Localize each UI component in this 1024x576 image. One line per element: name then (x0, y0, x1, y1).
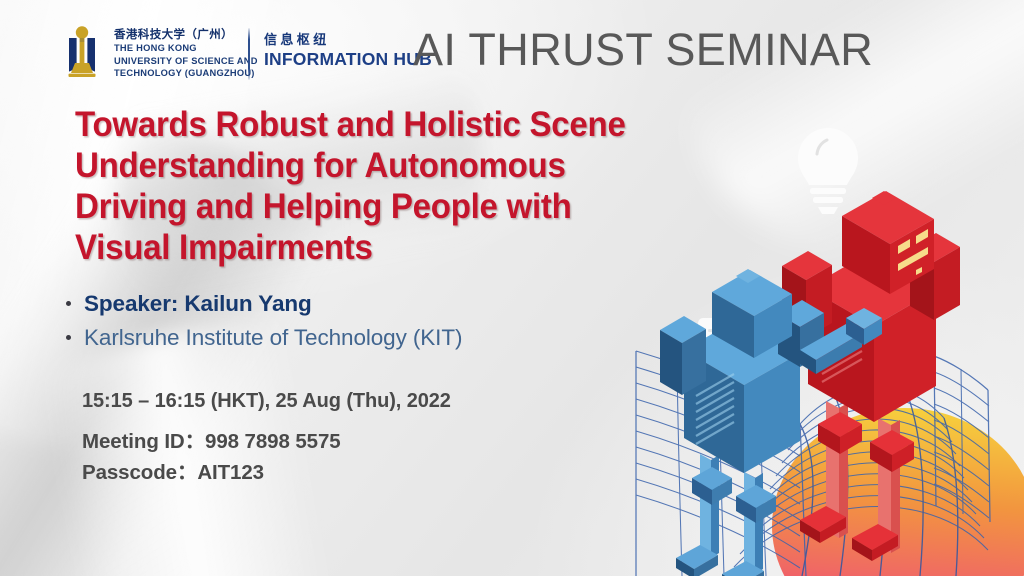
logo-divider (248, 28, 250, 80)
hkust-name-block: 香港科技大学（广州） THE HONG KONG UNIVERSITY OF S… (114, 25, 258, 79)
information-hub-logo: 信息枢纽 INFORMATION HUB (264, 32, 432, 69)
seminar-banner-title: AI THRUST SEMINAR (413, 23, 873, 76)
meeting-id: Meeting ID：998 7898 5575 (82, 427, 451, 458)
meeting-time: 15:15 – 16:15 (HKT), 25 Aug (Thu), 2022 (82, 389, 451, 413)
info-hub-chinese-name: 信息枢纽 (264, 32, 432, 48)
hkust-chinese-name: 香港科技大学（广州） (114, 28, 258, 42)
lightbulb-icon (798, 128, 858, 214)
hkust-logo-lockup: 香港科技大学（广州） THE HONG KONG UNIVERSITY OF S… (59, 25, 258, 81)
meeting-details: 15:15 – 16:15 (HKT), 25 Aug (Thu), 2022 … (82, 389, 451, 489)
bullet-dot-icon (66, 335, 71, 340)
list-item: Karlsruhe Institute of Technology (KIT) (66, 325, 462, 351)
poster-header: 香港科技大学（广州） THE HONG KONG UNIVERSITY OF S… (0, 0, 1024, 98)
bullet-dot-icon (66, 301, 71, 306)
list-item: Speaker: Kailun Yang (66, 291, 462, 317)
hkust-english-line1: THE HONG KONG (114, 42, 258, 54)
hkust-torch-logo-icon (59, 25, 105, 81)
speaker-info-list: Speaker: Kailun Yang Karlsruhe Institute… (66, 291, 462, 359)
hkust-english-line2: UNIVERSITY OF SCIENCE AND (114, 55, 258, 67)
info-hub-english-name: INFORMATION HUB (264, 49, 432, 69)
speaker-affiliation: Karlsruhe Institute of Technology (KIT) (84, 325, 462, 351)
seminar-poster: 香港科技大学（广州） THE HONG KONG UNIVERSITY OF S… (0, 0, 1024, 576)
robot-illustration (604, 106, 1024, 576)
hkust-english-line3: TECHNOLOGY (GUANGZHOU) (114, 67, 258, 79)
meeting-passcode: Passcode：AIT123 (82, 458, 451, 489)
speaker-name: Speaker: Kailun Yang (84, 291, 312, 317)
